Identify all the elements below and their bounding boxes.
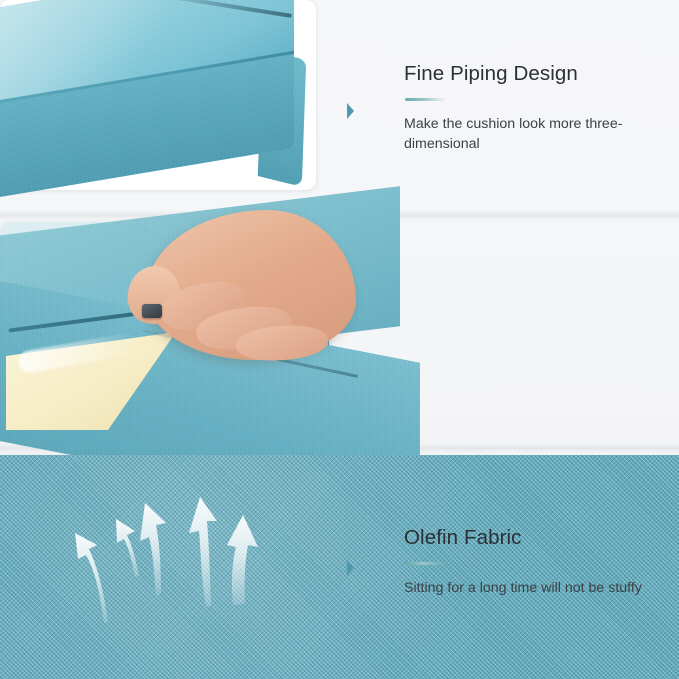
feature-panel-removable-cover: Removable Cushion Cover With hidden zipp…: [0, 222, 679, 450]
zipper-pull: [142, 304, 162, 318]
feature-panel-fine-piping: Fine Piping Design Make the cushion look…: [0, 0, 679, 215]
title-underline: [405, 562, 446, 565]
zipper-hand-photo: [0, 222, 330, 425]
feature-description: Sitting for a long time will not be stuf…: [404, 578, 642, 598]
feature-text-olefin-fabric: Olefin Fabric Sitting for a long time wi…: [404, 526, 642, 598]
feature-title: Fine Piping Design: [404, 62, 654, 86]
feature-panel-olefin-fabric: Olefin Fabric Sitting for a long time wi…: [0, 455, 679, 679]
feature-description: Make the cushion look more three-dimensi…: [404, 114, 654, 154]
feature-title: Olefin Fabric: [404, 526, 642, 550]
olefin-fabric-photo: [0, 455, 316, 643]
triangle-right-icon: [347, 560, 354, 576]
infographic-page: Fine Piping Design Make the cushion look…: [0, 0, 679, 679]
airflow-arrows: [0, 455, 316, 643]
cushion-corner-photo: [0, 0, 316, 190]
title-underline: [405, 98, 446, 101]
triangle-right-icon: [347, 103, 354, 119]
feature-text-fine-piping: Fine Piping Design Make the cushion look…: [404, 62, 654, 154]
